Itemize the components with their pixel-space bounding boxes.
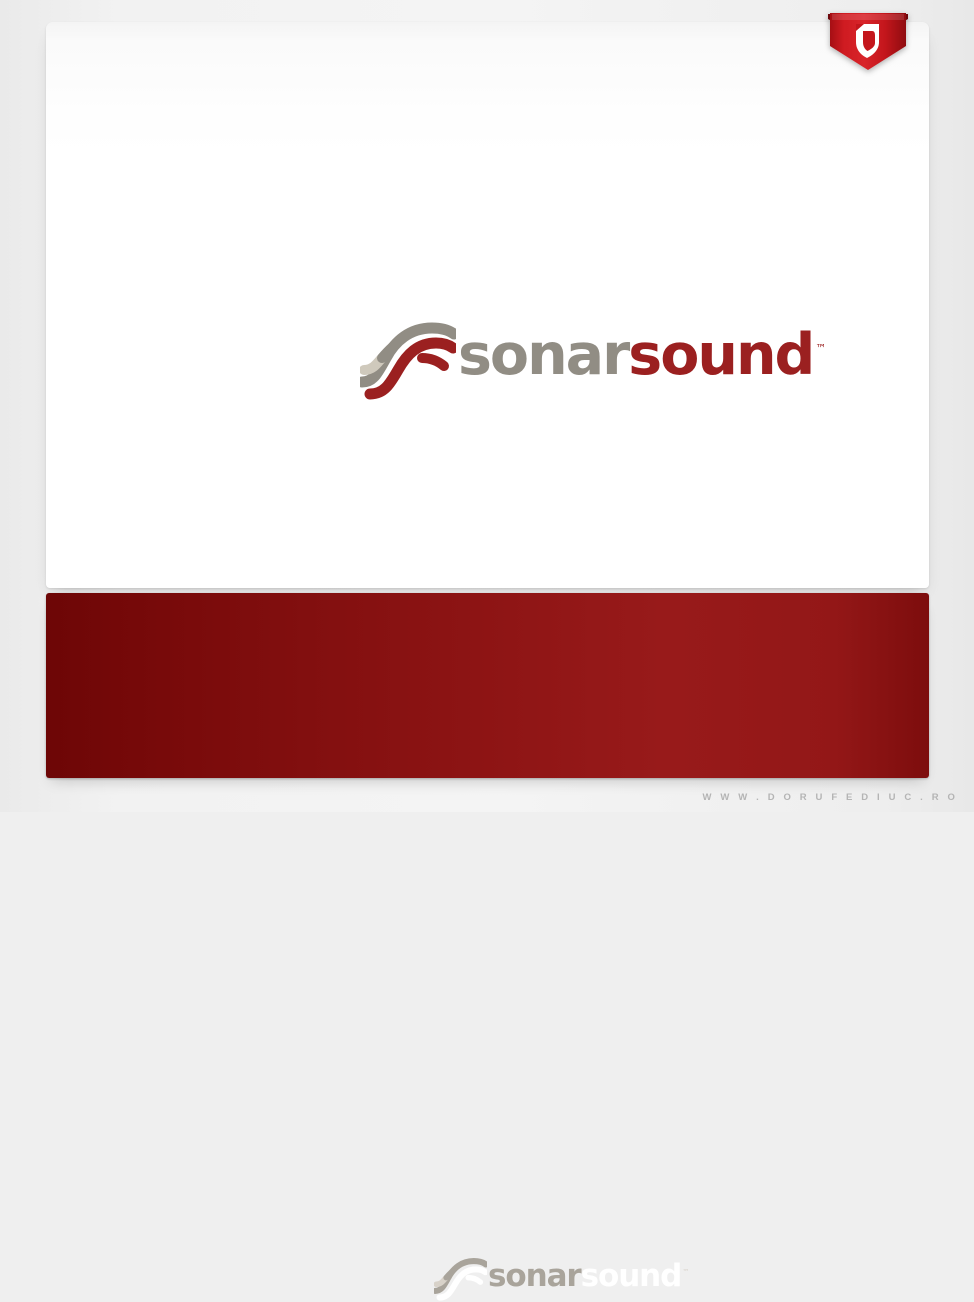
wordmark: sonarsound™ bbox=[458, 327, 826, 384]
ribbon-highlight bbox=[832, 14, 904, 20]
shield-ribbon-badge-icon[interactable] bbox=[826, 10, 910, 72]
reversed-logo-panel: sonarsound™ bbox=[46, 593, 929, 778]
wordmark-sound-reversed: sound bbox=[581, 1261, 682, 1292]
reversed-logo-lockup: sonarsound™ bbox=[434, 1250, 634, 1302]
trademark-symbol-reversed: ™ bbox=[682, 1269, 689, 1276]
wordmark-sonar: sonar bbox=[458, 327, 628, 384]
wordmark-sonar-reversed: sonar bbox=[488, 1261, 581, 1292]
sonar-wave-mark-icon-reversed bbox=[434, 1250, 487, 1302]
wordmark-reversed: sonarsound™ bbox=[488, 1261, 689, 1292]
logo-presentation-card: sonarsound™ bbox=[46, 22, 929, 588]
primary-logo-lockup: sonarsound™ bbox=[360, 308, 710, 402]
site-watermark: W W W . D O R U F E D I U C . R O bbox=[703, 792, 958, 803]
sonar-wave-mark-icon bbox=[360, 308, 456, 402]
trademark-symbol: ™ bbox=[815, 343, 826, 354]
wordmark-sound: sound bbox=[628, 327, 813, 384]
